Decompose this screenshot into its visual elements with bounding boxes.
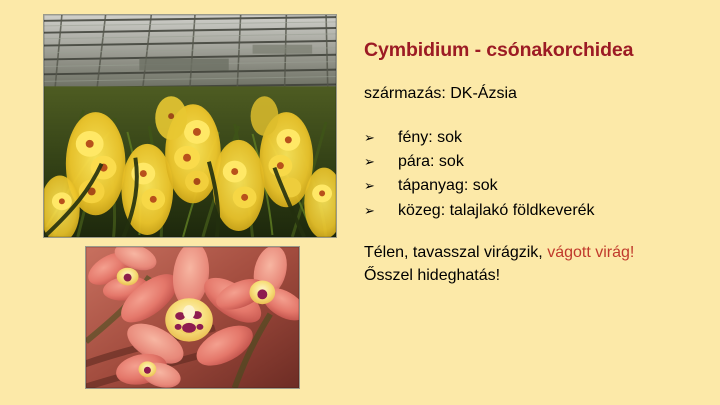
origin-line: származás: DK-Ázsia [364,85,700,103]
bullet-item-tapanyag: ➢ tápanyag: sok [364,174,700,198]
closing-line1-plain: Télen, tavasszal virágzik, [364,244,547,261]
bullet-label-pára: pára: sok [398,150,464,174]
arrow-bullet-icon: ➢ [364,128,398,148]
bullet-label-fény: fény: sok [398,126,462,150]
slide-canvas: Cymbidium - csónakorchidea származás: DK… [0,0,720,405]
arrow-bullet-icon: ➢ [364,152,398,172]
bullet-label-kozeg: közeg: talajlakó földkeverék [398,199,595,223]
closing-line2: Ősszel hideghatás! [364,264,700,287]
closing-text: Télen, tavasszal virágzik, vágott virág!… [364,241,700,287]
slide-title: Cymbidium - csónakorchidea [364,40,700,61]
closing-line1-highlight: vágott virág! [547,244,634,261]
text-column: Cymbidium - csónakorchidea származás: DK… [364,40,700,287]
arrow-bullet-icon: ➢ [364,201,398,221]
closeup-photo [85,246,300,389]
bullet-label-tapanyag: tápanyag: sok [398,174,498,198]
greenhouse-photo-graphic [44,15,336,237]
bullet-item-kozeg: ➢ közeg: talajlakó földkeverék [364,199,700,223]
closeup-photo-graphic [86,247,299,388]
arrow-bullet-icon: ➢ [364,176,398,196]
bullet-item-pára: ➢ pára: sok [364,150,700,174]
greenhouse-photo [43,14,337,238]
bullet-item-fény: ➢ fény: sok [364,126,700,150]
care-bullet-list: ➢ fény: sok ➢ pára: sok ➢ tápanyag: sok … [364,126,700,223]
